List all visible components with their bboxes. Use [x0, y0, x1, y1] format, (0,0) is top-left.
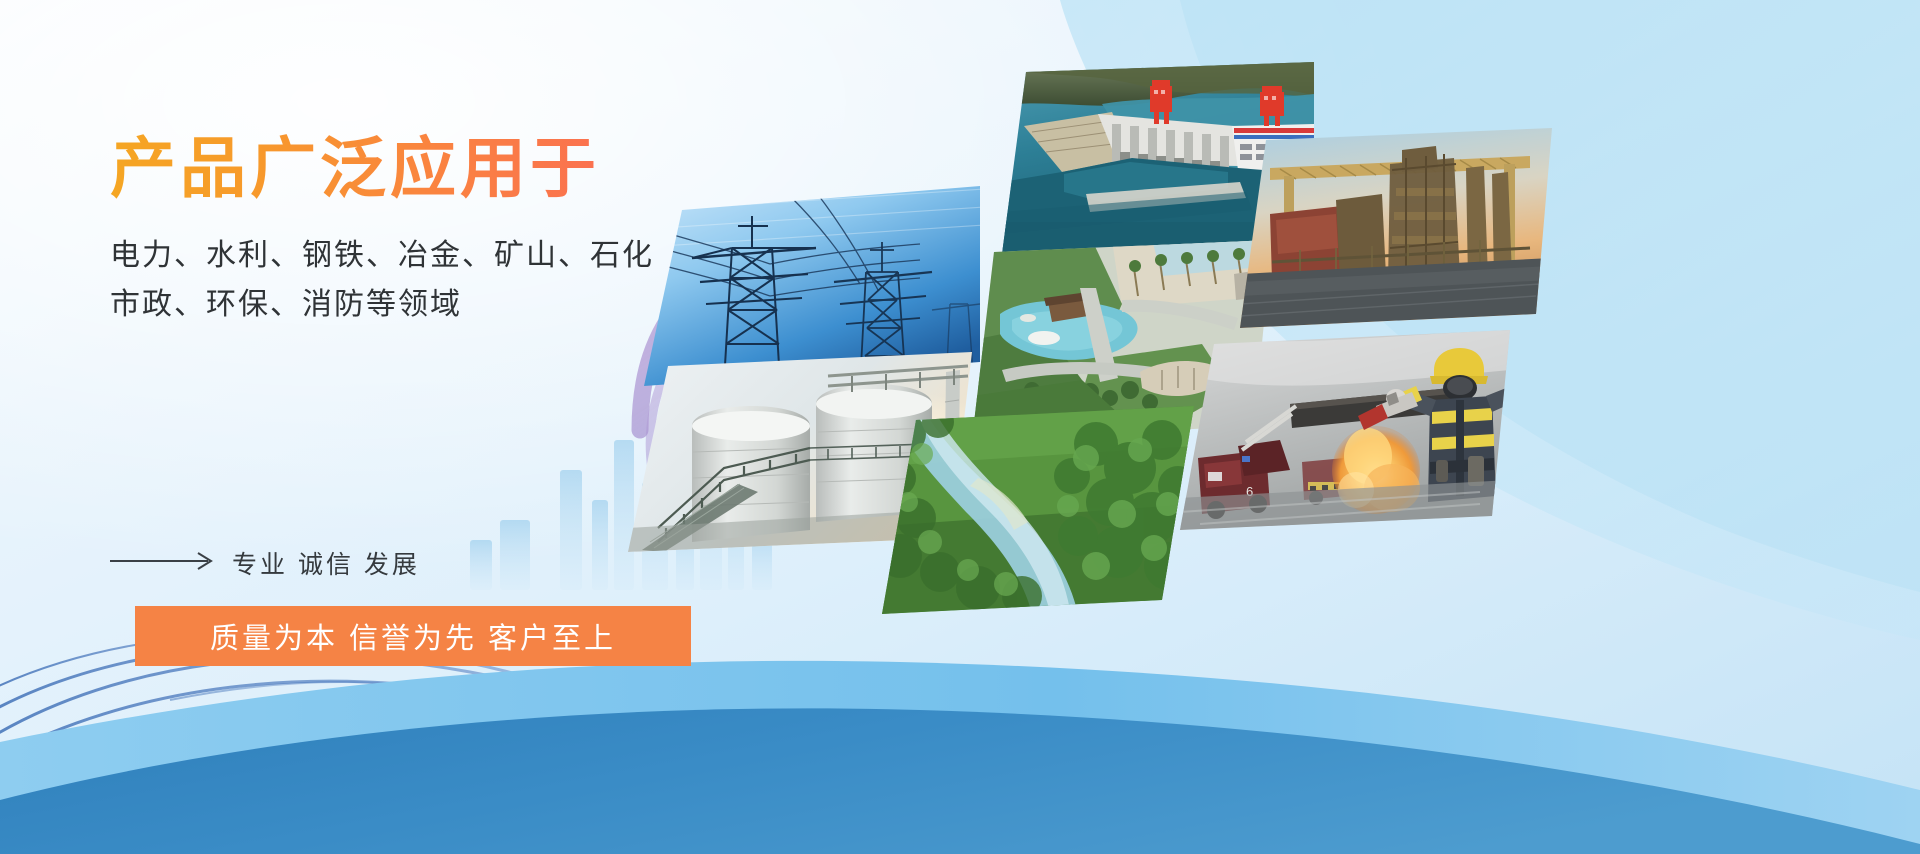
- motto-text: 专业 诚信 发展: [232, 545, 420, 581]
- long-arrow-right-icon: [110, 550, 218, 577]
- photo-steel-mill: [1240, 128, 1552, 328]
- quality-slogan-text: 质量为本 信誉为先 客户至上: [210, 615, 616, 657]
- motto-row: 专业 诚信 发展: [110, 545, 420, 581]
- quality-slogan-bar: 质量为本 信誉为先 客户至上: [135, 606, 691, 666]
- photo-collage: 6: [620, 0, 1920, 854]
- photo-green-river-forest: [882, 406, 1194, 614]
- photo-firefighter: 6: [1180, 330, 1510, 530]
- promo-banner: 产品广泛应用于 电力、水利、钢铁、冶金、矿山、石化 市政、环保、消防等领域 专业…: [0, 0, 1920, 854]
